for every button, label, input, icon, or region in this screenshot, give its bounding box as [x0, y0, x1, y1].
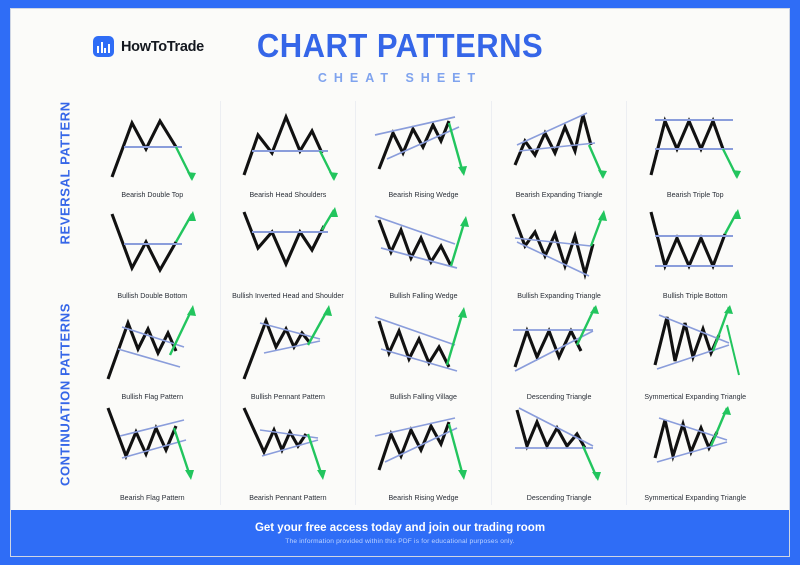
pattern-card[interactable]: Bullish Expanding Triangle [492, 202, 628, 303]
pattern-label: Bullish Triple Bottom [629, 292, 761, 301]
falling-wedge-cont-chart [369, 305, 477, 387]
triple-top-chart [641, 103, 749, 185]
page-subtitle: CHEAT SHEET [11, 71, 789, 85]
bear-flag-chart [98, 406, 206, 488]
symmetrical-triangle-up-chart [641, 305, 749, 387]
pattern-card[interactable]: Bearish Triple Top [627, 101, 763, 202]
patterns-grid: Bearish Double Top Bearish Head Shoulder… [85, 101, 763, 505]
pattern-label: Bearish Head Shoulders [223, 191, 354, 200]
page-title: CHART PATTERNS [34, 29, 765, 62]
pattern-card[interactable]: Bullish Inverted Head and Shoulder [221, 202, 357, 303]
rising-wedge-cont-chart [369, 406, 477, 488]
expanding-triangle-top-chart [505, 103, 613, 185]
bull-flag-chart [98, 305, 206, 387]
pattern-card[interactable]: Bearish Rising Wedge [356, 404, 492, 505]
expanding-triangle-bottom-chart [505, 204, 613, 286]
pattern-card[interactable]: Bearish Flag Pattern [85, 404, 221, 505]
bear-pennant-chart [234, 406, 342, 488]
pattern-label: Bearish Rising Wedge [358, 191, 489, 200]
pattern-label: Bearish Rising Wedge [358, 494, 489, 503]
symmetrical-triangle-down-chart [641, 406, 749, 488]
pattern-card[interactable]: Bearish Double Top [85, 101, 221, 202]
pattern-card[interactable]: Symmertical Expanding Triangle [627, 303, 763, 404]
pattern-label: Bearish Pennant Pattern [223, 494, 354, 503]
pattern-card[interactable]: Bullish Pennant Pattern [221, 303, 357, 404]
pattern-label: Bullish Double Bottom [87, 292, 218, 301]
double-bottom-chart [98, 204, 206, 286]
header: HowToTrade CHART PATTERNS CHEAT SHEET [11, 9, 789, 101]
section-labels: REVERSAL PATTERN CONTINUATION PATTERNS [47, 101, 81, 505]
pattern-label: Bullish Falling Wedge [358, 292, 489, 301]
section-label-continuation: CONTINUATION PATTERNS [58, 300, 73, 490]
pattern-label: Bullish Inverted Head and Shoulder [223, 292, 354, 301]
pattern-card[interactable]: Bearish Expanding Triangle [492, 101, 628, 202]
descending-triangle-down-chart [505, 406, 613, 488]
pattern-card[interactable]: Bearish Pennant Pattern [221, 404, 357, 505]
pattern-label: Bearish Double Top [87, 191, 218, 200]
inverted-head-shoulders-chart [234, 204, 342, 286]
descending-triangle-up-chart [505, 305, 613, 387]
pattern-card[interactable]: Descending Triangle [492, 303, 628, 404]
triple-bottom-chart [641, 204, 749, 286]
pattern-label: Bullish Flag Pattern [87, 393, 218, 402]
pattern-card[interactable]: Bullish Falling Village [356, 303, 492, 404]
pattern-label: Bullish Expanding Triangle [494, 292, 625, 301]
pattern-label: Symmertical Expanding Triangle [629, 393, 761, 402]
footer-disclaimer: The information provided within this PDF… [285, 538, 514, 545]
patterns-section: REVERSAL PATTERN CONTINUATION PATTERNS B… [11, 101, 789, 505]
pattern-card[interactable]: Bullish Triple Bottom [627, 202, 763, 303]
head-shoulders-chart [234, 103, 342, 185]
pattern-card[interactable]: Bullish Double Bottom [85, 202, 221, 303]
pattern-card[interactable]: Bearish Rising Wedge [356, 101, 492, 202]
bull-pennant-chart [234, 305, 342, 387]
pattern-label: Descending Triangle [494, 393, 625, 402]
double-top-chart [98, 103, 206, 185]
pattern-label: Bullish Falling Village [358, 393, 489, 402]
pattern-label: Symmertical Expanding Triangle [629, 494, 761, 503]
pattern-label: Descending Triangle [494, 494, 625, 503]
pattern-label: Bearish Triple Top [629, 191, 761, 200]
pattern-label: Bearish Expanding Triangle [494, 191, 625, 200]
pattern-card[interactable]: Bullish Falling Wedge [356, 202, 492, 303]
falling-wedge-chart [369, 204, 477, 286]
pattern-card[interactable]: Symmertical Expanding Triangle [627, 404, 763, 505]
pattern-card[interactable]: Descending Triangle [492, 404, 628, 505]
footer-cta-text: Get your free access today and join our … [255, 522, 545, 534]
rising-wedge-chart [369, 103, 477, 185]
section-label-reversal: REVERSAL PATTERN [58, 105, 73, 245]
pattern-label: Bullish Pennant Pattern [223, 393, 354, 402]
footer-cta-bar[interactable]: Get your free access today and join our … [11, 510, 789, 556]
pattern-card[interactable]: Bearish Head Shoulders [221, 101, 357, 202]
pattern-card[interactable]: Bullish Flag Pattern [85, 303, 221, 404]
cheat-sheet-page: HowToTrade CHART PATTERNS CHEAT SHEET RE… [10, 8, 790, 557]
title-block: CHART PATTERNS CHEAT SHEET [11, 29, 789, 85]
pattern-label: Bearish Flag Pattern [87, 494, 218, 503]
